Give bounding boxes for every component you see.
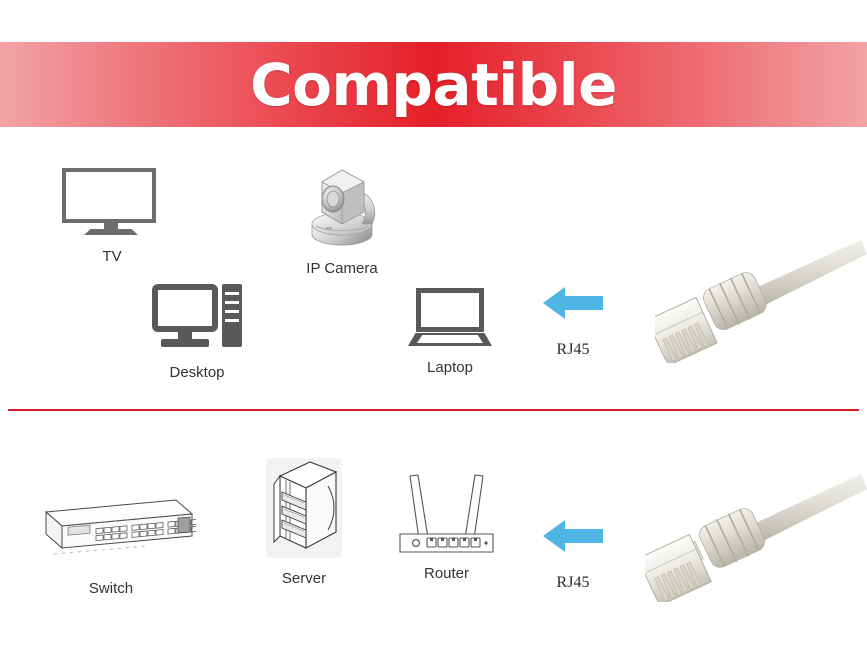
connector-label-bottom: RJ45 xyxy=(541,574,605,592)
device-label-laptop: Laptop xyxy=(408,359,492,376)
desktop-monitor-shape xyxy=(152,284,218,332)
page-title: Compatible xyxy=(250,56,617,114)
device-desktop: Desktop xyxy=(152,282,242,381)
ip-camera-icon xyxy=(300,162,384,252)
device-label-router: Router xyxy=(394,565,499,582)
connector-label-top: RJ45 xyxy=(541,341,605,359)
desktop-icon xyxy=(152,282,242,354)
connector-top: RJ45 xyxy=(541,283,605,359)
device-server: Server xyxy=(266,458,342,587)
tv-icon xyxy=(62,168,162,238)
desktop-base-shape xyxy=(161,339,209,347)
server-rack-glyph xyxy=(266,458,342,558)
compatibility-diagram: Compatible TV xyxy=(0,0,867,650)
laptop-screen-shape xyxy=(416,288,484,332)
tv-screen-shape xyxy=(62,168,156,223)
rj45-cable-glyph-bottom xyxy=(645,472,867,602)
device-laptop: Laptop xyxy=(408,288,492,376)
banner: Compatible xyxy=(0,42,867,127)
device-router: Router xyxy=(394,462,499,582)
connector-bottom: RJ45 xyxy=(541,516,605,592)
desktop-tower-shape xyxy=(222,284,242,347)
network-switch-icon xyxy=(26,494,196,566)
tv-base-shape xyxy=(84,229,138,235)
tv-neck-shape xyxy=(104,223,118,230)
router-glyph xyxy=(394,462,499,557)
device-label-switch: Switch xyxy=(26,580,196,597)
arrow-left-icon xyxy=(541,283,605,323)
device-tv: TV xyxy=(62,168,162,265)
device-label-desktop: Desktop xyxy=(152,364,242,381)
laptop-icon xyxy=(408,288,492,350)
laptop-keyboard-shape xyxy=(417,335,483,343)
device-label-tv: TV xyxy=(62,248,162,265)
server-rack-icon xyxy=(266,458,342,558)
arrow-left-glyph-bottom xyxy=(541,516,605,556)
device-ip-camera: IP Camera xyxy=(300,162,384,277)
rj45-cable-icon-bottom xyxy=(645,472,867,607)
router-icon xyxy=(394,462,499,557)
network-switch-glyph xyxy=(26,494,196,566)
rj45-cable-icon-top xyxy=(655,238,867,368)
arrow-left-glyph xyxy=(541,283,605,323)
section-divider xyxy=(8,409,859,411)
device-label-server: Server xyxy=(266,570,342,587)
ip-camera-glyph xyxy=(300,162,384,252)
device-label-ip-camera: IP Camera xyxy=(300,260,384,277)
rj45-cable-glyph-top xyxy=(655,238,867,363)
device-switch: Switch xyxy=(26,494,196,597)
arrow-left-icon-bottom xyxy=(541,516,605,556)
